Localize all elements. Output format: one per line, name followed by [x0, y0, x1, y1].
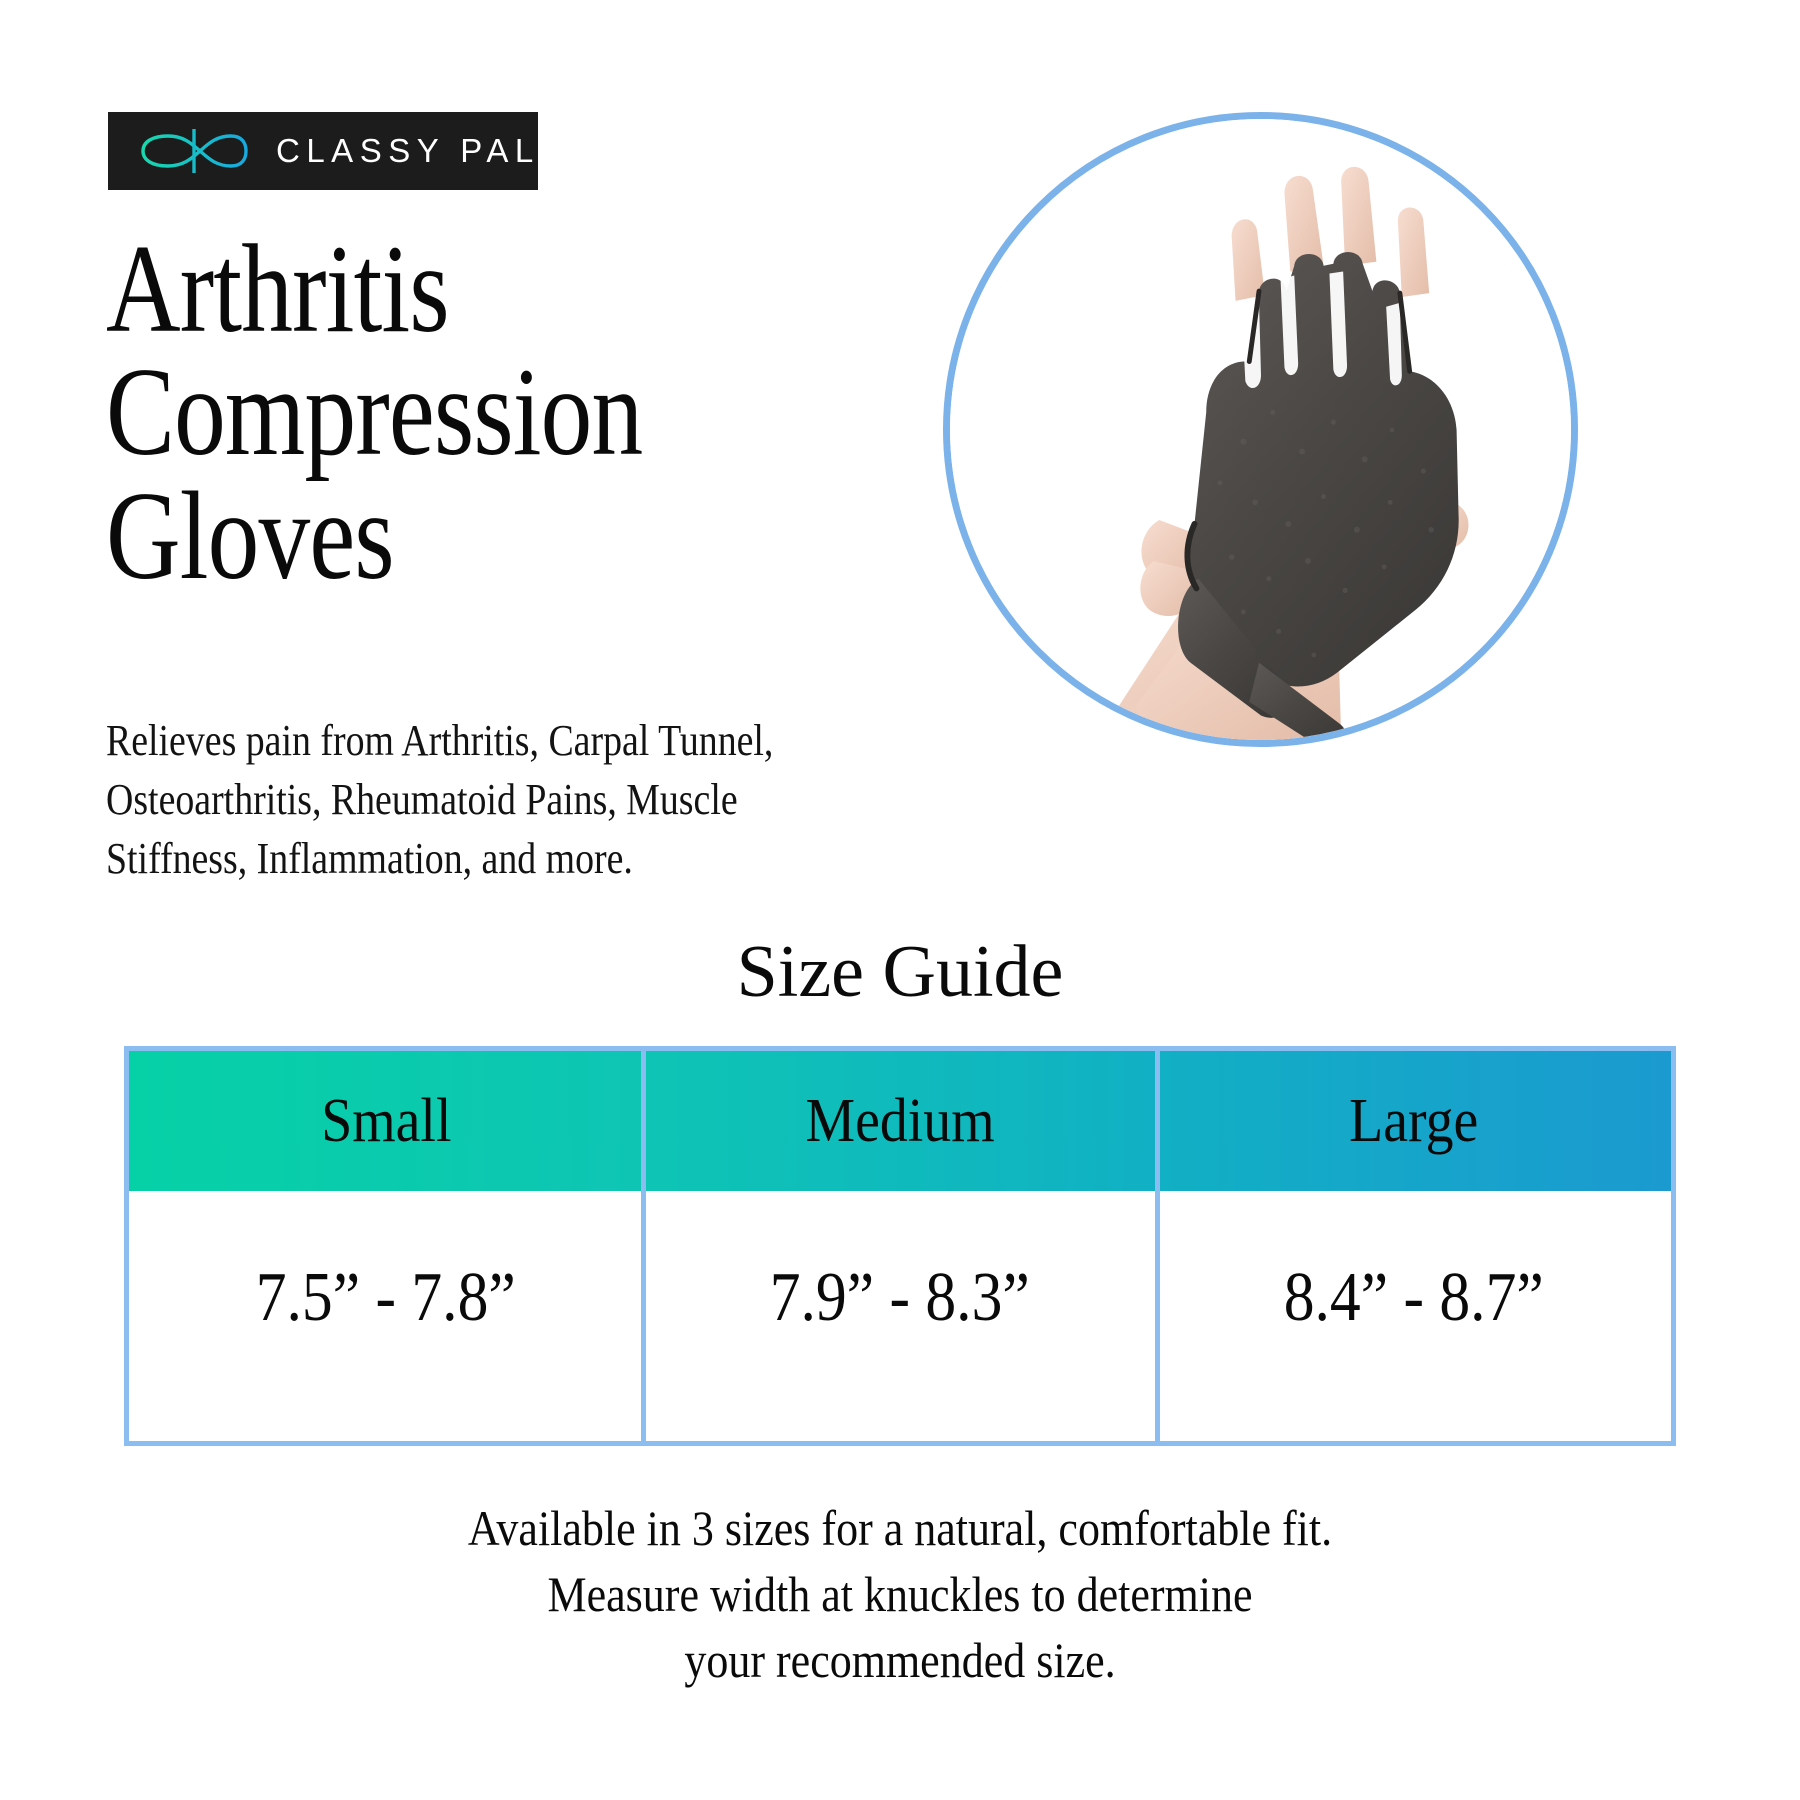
size-guide-table: Small Medium Large 7.5” - 7.8” 7.9” - 8.… [124, 1046, 1676, 1446]
measurement-value: 7.9” - 8.3” [770, 1258, 1030, 1338]
product-photo [943, 112, 1578, 747]
title-line-1: Arthritis [106, 228, 787, 351]
instruction-line-3: your recommended size. [108, 1627, 1692, 1693]
measurement-cell-large: 8.4” - 8.7” [1157, 1191, 1671, 1441]
description-line-3: Stiffness, Inflammation, and more. [106, 830, 975, 889]
table-header-row: Small Medium Large [129, 1051, 1671, 1191]
table-body-row: 7.5” - 7.8” 7.9” - 8.3” 8.4” - 8.7” [129, 1191, 1671, 1441]
instruction-line-1: Available in 3 sizes for a natural, comf… [108, 1495, 1692, 1561]
description-line-2: Osteoarthritis, Rheumatoid Pains, Muscle [106, 771, 975, 830]
instruction-line-2: Measure width at knuckles to determine [108, 1561, 1692, 1627]
description-line-1: Relieves pain from Arthritis, Carpal Tun… [106, 712, 975, 771]
glove-illustration [950, 119, 1571, 740]
title-line-3: Gloves [106, 475, 787, 598]
column-header-large: Large [1157, 1051, 1671, 1191]
size-guide-heading: Size Guide [0, 930, 1800, 1015]
column-header-label: Small [321, 1086, 451, 1157]
sizing-instructions: Available in 3 sizes for a natural, comf… [0, 1495, 1800, 1693]
measurement-cell-medium: 7.9” - 8.3” [643, 1191, 1157, 1441]
brand-logo: CLASSY PAL [108, 112, 538, 190]
title-line-2: Compression [106, 351, 787, 474]
measurement-value: 8.4” - 8.7” [1284, 1258, 1544, 1338]
measurement-value: 7.5” - 7.8” [256, 1258, 516, 1338]
column-header-medium: Medium [643, 1051, 1157, 1191]
infinity-icon [138, 126, 250, 176]
measurement-cell-small: 7.5” - 7.8” [129, 1191, 643, 1441]
page-title: Arthritis Compression Gloves [106, 228, 787, 598]
brand-name: CLASSY PAL [276, 132, 540, 170]
column-header-label: Large [1349, 1086, 1478, 1157]
column-header-small: Small [129, 1051, 643, 1191]
column-header-label: Medium [805, 1086, 994, 1157]
product-description: Relieves pain from Arthritis, Carpal Tun… [106, 712, 975, 889]
